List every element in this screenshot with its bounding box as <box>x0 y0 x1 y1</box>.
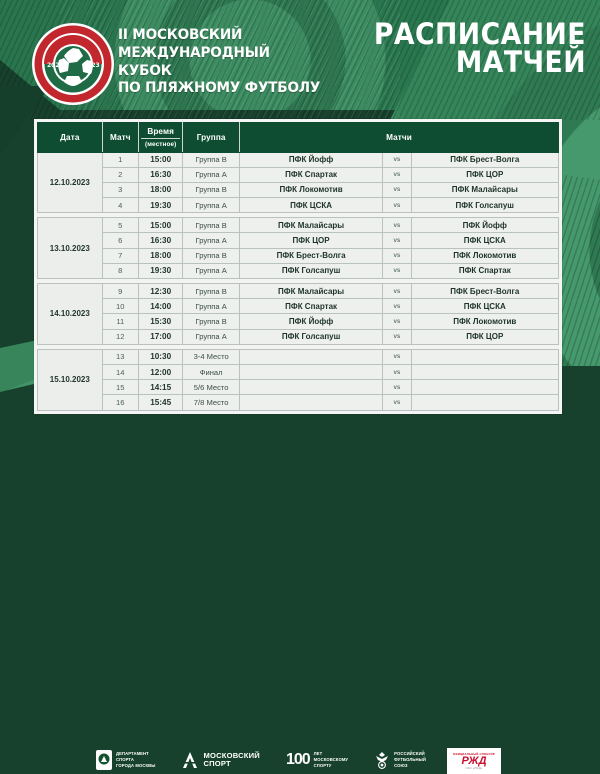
table-row[interactable]: 616:30Группа AПФК ЦОРvsПФК ЦСКА <box>38 233 559 248</box>
cell-time: 18:00 <box>138 182 182 197</box>
table-row[interactable]: 12.10.2023115:00Группа BПФК ЙоффvsПФК Бр… <box>38 152 559 167</box>
cell-time: 17:00 <box>138 329 182 344</box>
column-header-time-sub: (местное) <box>141 138 180 148</box>
cell-match-number: 13 <box>102 349 138 364</box>
cell-group: Группа B <box>183 248 240 263</box>
schedule-table-frame: Дата Матч Время (местное) Группа Матчи 1… <box>34 119 562 414</box>
cell-vs: vs <box>383 284 411 299</box>
cell-group: Группа A <box>183 299 240 314</box>
logo-moscow-sport-department: Департамент спорта города Москвы <box>96 750 155 770</box>
logo-russian-football-union: РОССИЙСКИЙ ФУТБОЛЬНЫЙ СОЮЗ <box>374 750 426 770</box>
cell-vs: vs <box>383 152 411 167</box>
cell-time: 14:00 <box>138 299 182 314</box>
cell-date: 14.10.2023 <box>38 284 103 345</box>
table-row[interactable]: 819:30Группа AПФК ГолсапушvsПФК Спартак <box>38 263 559 278</box>
table-row[interactable]: 419:30Группа AПФК ЦСКАvsПФК Голсапуш <box>38 198 559 213</box>
cell-match-number: 5 <box>102 218 138 233</box>
cell-vs: vs <box>383 218 411 233</box>
cell-home-team: ПФК Брест-Волга <box>239 248 382 263</box>
cell-group: Группа B <box>183 152 240 167</box>
schedule-table-header: Дата Матч Время (местное) Группа Матчи <box>38 123 559 153</box>
cell-away-team: ПФК Брест-Волга <box>411 152 558 167</box>
moskovskiy-sport-mark-icon <box>181 751 199 769</box>
cell-away-team: ПФК Локомотив <box>411 314 558 329</box>
cell-home-team: ПФК Локомотив <box>239 182 382 197</box>
cell-vs: vs <box>383 329 411 344</box>
cell-home-team: ПФК Спартак <box>239 167 382 182</box>
cell-match-number: 6 <box>102 233 138 248</box>
cell-time: 19:30 <box>138 263 182 278</box>
cell-vs: vs <box>383 263 411 278</box>
cell-group: Группа B <box>183 284 240 299</box>
cell-time: 19:30 <box>138 198 182 213</box>
cell-home-team: ПФК Йофф <box>239 152 382 167</box>
cell-match-number: 4 <box>102 198 138 213</box>
cell-date: 13.10.2023 <box>38 218 103 279</box>
schedule-table: Дата Матч Время (местное) Группа Матчи 1… <box>37 122 559 411</box>
logo-moscow-sport-department-label: Департамент спорта города Москвы <box>116 751 155 768</box>
table-row[interactable]: 216:30Группа AПФК СпартакvsПФК ЦОР <box>38 167 559 182</box>
logo-rzd-bottom: ОАО «РЖД» <box>466 767 483 770</box>
column-header-time-main: Время <box>147 127 174 136</box>
cell-vs: vs <box>383 167 411 182</box>
page-title: РАСПИСАНИЕ МАТЧЕЙ <box>356 20 586 77</box>
table-row[interactable]: 1115:30Группа BПФК ЙоффvsПФК Локомотив <box>38 314 559 329</box>
cell-group: Группа B <box>183 314 240 329</box>
cell-vs: vs <box>383 233 411 248</box>
cell-time: 15:00 <box>138 218 182 233</box>
cell-group: Группа A <box>183 263 240 278</box>
logo-100-let-number: 100 <box>286 751 310 769</box>
cell-home-team <box>239 349 382 364</box>
cell-home-team: ПФК ЦОР <box>239 233 382 248</box>
logo-moskovskiy-sport-label: МОСКОВСКИЙ СПОРТ <box>203 752 260 769</box>
cell-match-number: 3 <box>102 182 138 197</box>
column-header-match: Матч <box>102 123 138 153</box>
cell-away-team: ПФК Спартак <box>411 263 558 278</box>
logo-100-let-label: ЛЕТ МОСКОВСКОМУ СПОРТУ <box>314 751 348 768</box>
tournament-emblem-icon: 2023 2023 <box>31 22 115 106</box>
column-header-group: Группа <box>183 123 240 153</box>
cell-group: Группа B <box>183 218 240 233</box>
cell-group: Группа A <box>183 198 240 213</box>
cell-away-team: ПФК Малайсары <box>411 182 558 197</box>
cell-away-team: ПФК ЦСКА <box>411 299 558 314</box>
cell-home-team: ПФК ЦСКА <box>239 198 382 213</box>
logo-rzd-mark: РЖД <box>461 756 486 767</box>
cell-group: Группа B <box>183 182 240 197</box>
cell-vs: vs <box>383 314 411 329</box>
cell-group: 3-4 Место <box>183 349 240 364</box>
event-title-line-3: ПО ПЛЯЖНОМУ ФУТБОЛУ <box>118 79 323 97</box>
cell-date: 12.10.2023 <box>38 152 103 213</box>
page-title-line-2: МАТЧЕЙ <box>356 48 586 76</box>
sponsor-logos: Департамент спорта города Москвы МОСКОВС… <box>96 750 426 770</box>
cell-match-number: 9 <box>102 284 138 299</box>
table-row[interactable]: 14.10.2023912:30Группа BПФК МалайсарыvsП… <box>38 284 559 299</box>
cell-time: 16:30 <box>138 233 182 248</box>
table-row[interactable]: 15.10.20231310:303-4 Местоvs <box>38 349 559 364</box>
cell-time: 15:30 <box>138 314 182 329</box>
column-header-matches: Матчи <box>239 123 558 153</box>
cell-away-team: ПФК Голсапуш <box>411 198 558 213</box>
event-title: II МОСКОВСКИЙ МЕЖДУНАРОДНЫЙ КУБОК ПО ПЛЯ… <box>118 26 323 97</box>
logo-russian-football-union-label: РОССИЙСКИЙ ФУТБОЛЬНЫЙ СОЮЗ <box>394 751 426 768</box>
cell-match-number: 10 <box>102 299 138 314</box>
event-title-line-1: II МОСКОВСКИЙ <box>118 26 323 44</box>
cell-vs: vs <box>383 299 411 314</box>
table-row[interactable]: 1217:00Группа AПФК ГолсапушvsПФК ЦОР <box>38 329 559 344</box>
table-row[interactable]: 1014:00Группа AПФК СпартакvsПФК ЦСКА <box>38 299 559 314</box>
double-headed-eagle-icon <box>374 750 390 770</box>
cell-group: Группа A <box>183 167 240 182</box>
cell-vs: vs <box>383 182 411 197</box>
cell-home-team: ПФК Спартак <box>239 299 382 314</box>
cell-home-team: ПФК Голсапуш <box>239 263 382 278</box>
moscow-coat-of-arms-icon <box>96 750 112 770</box>
cell-time: 15:00 <box>138 152 182 167</box>
cell-match-number: 12 <box>102 329 138 344</box>
cell-time: 12:30 <box>138 284 182 299</box>
cell-match-number: 2 <box>102 167 138 182</box>
page-title-line-1: РАСПИСАНИЕ <box>356 20 586 48</box>
table-row[interactable]: 13.10.2023515:00Группа BПФК МалайсарыvsП… <box>38 218 559 233</box>
logo-100-let: 100 ЛЕТ МОСКОВСКОМУ СПОРТУ <box>286 751 348 769</box>
cell-home-team: ПФК Йофф <box>239 314 382 329</box>
footer: Департамент спорта города Москвы МОСКОВС… <box>0 372 600 428</box>
cell-away-team: ПФК ЦОР <box>411 167 558 182</box>
cell-time: 18:00 <box>138 248 182 263</box>
cell-vs: vs <box>383 198 411 213</box>
event-title-line-2: МЕЖДУНАРОДНЫЙ КУБОК <box>118 44 323 80</box>
logo-rzd: ОФИЦИАЛЬНЫЙ СПОНСОР РЖД ОАО «РЖД» <box>447 748 501 774</box>
table-row[interactable]: 318:00Группа BПФК ЛокомотивvsПФК Малайса… <box>38 182 559 197</box>
cell-away-team: ПФК ЦСКА <box>411 233 558 248</box>
cell-away-team: ПФК Брест-Волга <box>411 284 558 299</box>
cell-home-team: ПФК Малайсары <box>239 284 382 299</box>
column-header-time: Время (местное) <box>138 123 182 153</box>
cell-home-team: ПФК Голсапуш <box>239 329 382 344</box>
cell-away-team: ПФК ЦОР <box>411 329 558 344</box>
cell-vs: vs <box>383 248 411 263</box>
cell-match-number: 11 <box>102 314 138 329</box>
cell-time: 16:30 <box>138 167 182 182</box>
column-header-date: Дата <box>38 123 103 153</box>
cell-away-team <box>411 349 558 364</box>
cell-match-number: 7 <box>102 248 138 263</box>
svg-text:2023: 2023 <box>47 62 64 69</box>
table-row[interactable]: 718:00Группа BПФК Брест-ВолгаvsПФК Локом… <box>38 248 559 263</box>
cell-group: Группа A <box>183 329 240 344</box>
cell-away-team: ПФК Йофф <box>411 218 558 233</box>
cell-vs: vs <box>383 349 411 364</box>
cell-match-number: 1 <box>102 152 138 167</box>
cell-away-team: ПФК Локомотив <box>411 248 558 263</box>
svg-text:2023: 2023 <box>83 62 100 69</box>
logo-moskovskiy-sport: МОСКОВСКИЙ СПОРТ <box>181 751 260 769</box>
cell-match-number: 8 <box>102 263 138 278</box>
cell-group: Группа A <box>183 233 240 248</box>
cell-time: 10:30 <box>138 349 182 364</box>
cell-home-team: ПФК Малайсары <box>239 218 382 233</box>
